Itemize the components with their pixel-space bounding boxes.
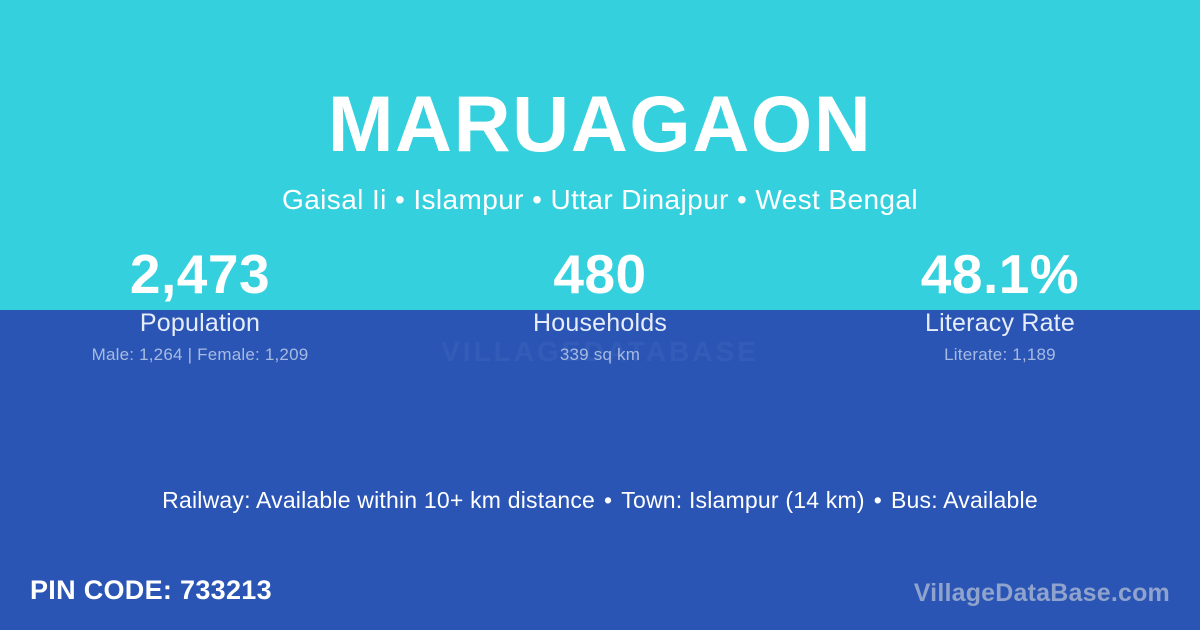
location-breadcrumb: Gaisal Ii • Islampur • Uttar Dinajpur • … xyxy=(0,182,1200,218)
amenity-separator-2: • xyxy=(865,487,891,513)
amenities-line: Railway: Available within 10+ km distanc… xyxy=(0,485,1200,515)
statistics-row: 2,473 Population Male: 1,264 | Female: 1… xyxy=(0,244,1200,365)
pin-code: PIN CODE: 733213 xyxy=(30,573,272,607)
stat-households-value: 480 xyxy=(400,244,800,304)
site-branding: VillageDataBase.com xyxy=(914,578,1170,608)
stat-literacy-rate-value: 48.1% xyxy=(800,244,1200,304)
stat-literacy-rate-label: Literacy Rate xyxy=(800,308,1200,338)
stat-households-detail: 339 sq km xyxy=(400,345,800,365)
stat-population-value: 2,473 xyxy=(0,244,400,304)
amenity-railway: Railway: Available within 10+ km distanc… xyxy=(162,487,595,513)
stat-households: 480 Households 339 sq km xyxy=(400,244,800,365)
stat-households-label: Households xyxy=(400,308,800,338)
amenity-separator-1: • xyxy=(595,487,621,513)
stat-population: 2,473 Population Male: 1,264 | Female: 1… xyxy=(0,244,400,365)
amenity-bus: Bus: Available xyxy=(891,487,1038,513)
stat-literacy-rate: 48.1% Literacy Rate Literate: 1,189 xyxy=(800,244,1200,365)
amenity-town: Town: Islampur (14 km) xyxy=(621,487,864,513)
stat-population-label: Population xyxy=(0,308,400,338)
stat-literacy-rate-detail: Literate: 1,189 xyxy=(800,345,1200,365)
stat-population-detail: Male: 1,264 | Female: 1,209 xyxy=(0,345,400,365)
page-title: MARUAGAON xyxy=(0,84,1200,163)
village-info-card: MARUAGAON Gaisal Ii • Islampur • Uttar D… xyxy=(0,0,1200,630)
